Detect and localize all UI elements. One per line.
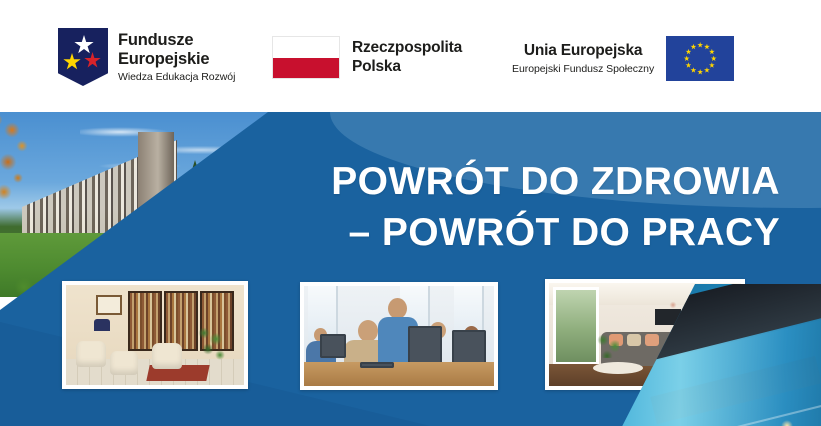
- eu-star-icon: [697, 69, 703, 75]
- computer-training-photo: [300, 282, 498, 390]
- eu-star-icon: [704, 67, 710, 73]
- unia-europejska-subtitle: Europejski Fundusz Społeczny: [512, 63, 654, 75]
- fundusze-line-2: Europejskie: [118, 50, 235, 68]
- keyboard: [360, 362, 394, 368]
- rzeczpospolita-line-1: Rzeczpospolita: [352, 39, 462, 58]
- unia-europejska-text: Unia Europejska Europejski Fundusz Społe…: [512, 42, 654, 76]
- armchair: [152, 343, 182, 369]
- fundusze-europejskie-stars-icon: [58, 28, 108, 86]
- european-union-flag-icon: [666, 36, 734, 81]
- fundusze-mark-background: [58, 28, 108, 86]
- armchair: [110, 351, 138, 375]
- rzeczpospolita-polska-logo: Rzeczpospolita Polska: [272, 36, 462, 79]
- fundusze-subtitle: Wiedza Edukacja Rozwój: [118, 71, 235, 83]
- cushion: [627, 334, 641, 346]
- fundusze-europejskie-logo: Fundusze Europejskie Wiedza Edukacja Roz…: [58, 28, 235, 86]
- floor-lamp: [94, 319, 110, 331]
- poland-flag-red-band: [273, 58, 339, 79]
- computer-monitor: [408, 326, 442, 364]
- trainee-head: [358, 320, 378, 342]
- rzeczpospolita-text: Rzeczpospolita Polska: [352, 39, 462, 76]
- eu-star-icon: [690, 67, 696, 73]
- coffee-table: [593, 362, 643, 374]
- bookshelf: [164, 291, 198, 351]
- computer-training-photo-inner: [304, 286, 494, 386]
- computer-monitor: [452, 330, 486, 366]
- eu-star-icon: [685, 49, 691, 55]
- eu-star-icon: [709, 62, 715, 68]
- desk: [304, 362, 494, 386]
- armchair: [76, 341, 106, 367]
- potted-plant: [194, 323, 230, 365]
- fundusze-europejskie-text: Fundusze Europejskie Wiedza Edukacja Roz…: [118, 31, 235, 83]
- unia-europejska-title: Unia Europejska: [512, 42, 654, 61]
- unia-europejska-logo: Unia Europejska Europejski Fundusz Społe…: [512, 36, 734, 81]
- books: [166, 293, 196, 349]
- library-photo: [62, 281, 248, 389]
- pool-light: [781, 420, 793, 426]
- poland-flag-icon: [272, 36, 340, 79]
- cushion: [645, 334, 659, 346]
- potted-plant: [593, 330, 619, 358]
- wall-picture-frame: [96, 295, 122, 315]
- eu-star-icon: [697, 42, 703, 48]
- eu-star-icon: [685, 62, 691, 68]
- eu-star-icon: [684, 56, 690, 62]
- fundusze-line-1: Fundusze: [118, 31, 235, 49]
- banner-title: POWRÓT DO ZDROWIA – POWRÓT DO PRACY: [0, 156, 780, 258]
- eu-star-icon: [704, 44, 710, 50]
- poland-flag-white-band: [273, 37, 339, 58]
- bookshelf: [128, 291, 162, 351]
- rzeczpospolita-line-2: Polska: [352, 58, 462, 77]
- banner-title-line-1: POWRÓT DO ZDROWIA: [0, 156, 780, 207]
- eu-star-icon: [709, 49, 715, 55]
- banner-title-line-2: – POWRÓT DO PRACY: [0, 207, 780, 258]
- eu-funding-logo-bar: Fundusze Europejskie Wiedza Edukacja Roz…: [0, 0, 821, 112]
- books: [130, 293, 160, 349]
- library-photo-inner: [66, 285, 244, 385]
- eu-star-icon: [711, 56, 717, 62]
- instructor-head: [388, 298, 407, 319]
- project-banner: POWRÓT DO ZDROWIA – POWRÓT DO PRACY: [0, 112, 821, 426]
- eu-star-icon: [690, 44, 696, 50]
- computer-monitor: [320, 334, 346, 358]
